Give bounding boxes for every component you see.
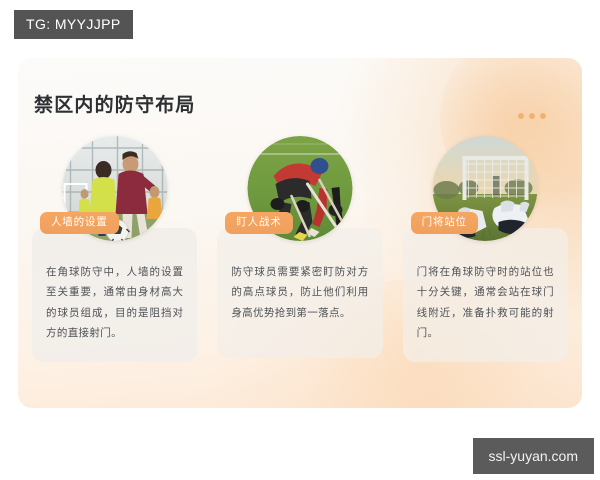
info-card: 盯人战术 防守球员需要紧密盯防对方的高点球员，防止他们利用身高优势抢到第一落点。 (217, 136, 382, 362)
info-card: 门将站位 门将在角球防守时的站位也十分关键，通常会站在球门线附近，准备扑救可能的… (403, 136, 568, 362)
card-body: 防守球员需要紧密盯防对方的高点球员，防止他们利用身高优势抢到第一落点。 (217, 228, 382, 358)
decor-dot-2 (529, 113, 535, 119)
decor-dot-3 (540, 113, 546, 119)
card-description: 在角球防守中，人墙的设置至关重要，通常由身材高大的球员组成，目的是阻挡对方的直接… (46, 262, 183, 344)
site-watermark: ssl-yuyan.com (473, 438, 594, 474)
info-card: 人墙的设置 在角球防守中，人墙的设置至关重要，通常由身材高大的球员组成，目的是阻… (32, 136, 197, 362)
card-label-badge: 人墙的设置 (40, 212, 119, 234)
card-description: 防守球员需要紧密盯防对方的高点球员，防止他们利用身高优势抢到第一落点。 (231, 262, 368, 323)
card-body: 门将在角球防守时的站位也十分关键，通常会站在球门线附近，准备扑救可能的射门。 (403, 228, 568, 362)
page-title: 禁区内的防守布局 (34, 90, 196, 117)
tg-watermark-badge: TG: MYYJJPP (14, 10, 133, 39)
cards-row: 人墙的设置 在角球防守中，人墙的设置至关重要，通常由身材高大的球员组成，目的是阻… (32, 136, 568, 362)
content-panel: 禁区内的防守布局 (18, 58, 582, 408)
card-label-badge: 门将站位 (411, 212, 478, 234)
decor-dot-1 (518, 113, 524, 119)
decorative-dots (518, 113, 546, 119)
card-body: 在角球防守中，人墙的设置至关重要，通常由身材高大的球员组成，目的是阻挡对方的直接… (32, 228, 197, 362)
card-description: 门将在角球防守时的站位也十分关键，通常会站在球门线附近，准备扑救可能的射门。 (417, 262, 554, 344)
card-label-badge: 盯人战术 (225, 212, 292, 234)
